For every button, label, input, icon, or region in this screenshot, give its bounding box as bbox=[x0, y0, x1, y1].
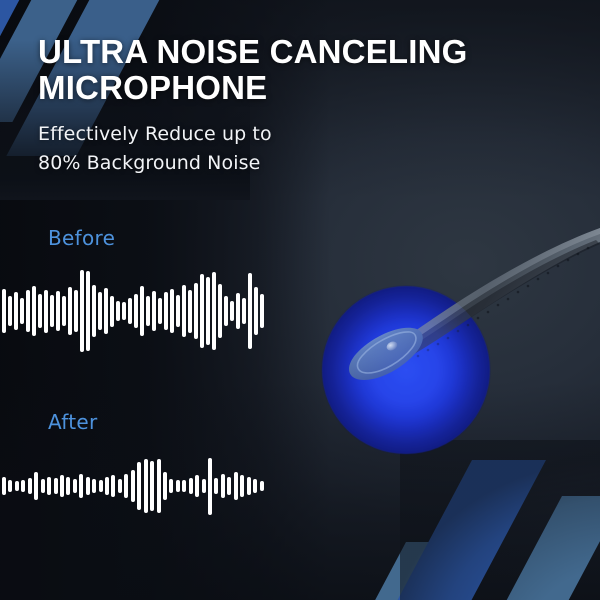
waveform-bar bbox=[260, 294, 264, 328]
waveform-bar bbox=[99, 480, 103, 491]
waveform-bar bbox=[41, 479, 45, 493]
waveform-bar bbox=[195, 475, 199, 496]
waveform-bar bbox=[122, 302, 126, 319]
waveform-bar bbox=[47, 477, 51, 496]
waveform-bar bbox=[214, 478, 218, 494]
label-before: Before bbox=[48, 226, 115, 250]
waveform-bar bbox=[163, 472, 167, 499]
waveform-bar bbox=[164, 292, 168, 330]
waveform-bar bbox=[221, 474, 225, 498]
waveform-bar bbox=[230, 301, 234, 322]
waveform-bar bbox=[248, 273, 252, 349]
waveform-bar bbox=[227, 477, 231, 496]
waveform-bar bbox=[169, 479, 173, 494]
waveform-bar bbox=[74, 290, 78, 331]
waveform-bar bbox=[86, 477, 90, 496]
waveform-bar bbox=[2, 289, 6, 334]
waveform-bar bbox=[206, 277, 210, 344]
product-photo-headset-microphone bbox=[300, 210, 600, 470]
waveform-bar bbox=[146, 296, 150, 325]
waveform-bar bbox=[253, 479, 257, 493]
waveform-bar bbox=[62, 296, 66, 325]
waveform-bar bbox=[26, 290, 30, 331]
waveform-bar bbox=[20, 298, 24, 324]
waveform-bar bbox=[247, 477, 251, 494]
waveform-bar bbox=[2, 477, 6, 496]
waveform-bar bbox=[137, 462, 141, 509]
waveform-bar bbox=[242, 298, 246, 324]
waveform-bar bbox=[131, 470, 135, 502]
waveform-bar bbox=[116, 301, 120, 322]
waveform-bar bbox=[104, 288, 108, 334]
waveform-bar bbox=[240, 475, 244, 496]
waveform-bar bbox=[34, 472, 38, 499]
waveform-bar bbox=[66, 477, 70, 494]
waveform-bar bbox=[60, 475, 64, 496]
waveform-bar bbox=[44, 290, 48, 333]
waveform-bar bbox=[92, 285, 96, 337]
waveform-bar bbox=[118, 479, 122, 494]
waveform-bar bbox=[105, 477, 109, 494]
page-subtitle: Effectively Reduce up to 80% Background … bbox=[38, 120, 468, 178]
waveform-bar bbox=[188, 290, 192, 333]
boom-arm-texture-band bbox=[402, 240, 600, 360]
promo-banner: ULTRA NOISE CANCELING MICROPHONE Effecti… bbox=[0, 0, 600, 600]
waveform-bar bbox=[110, 296, 114, 327]
waveform-bar bbox=[56, 291, 60, 331]
waveform-bar bbox=[218, 284, 222, 337]
waveform-bar bbox=[8, 296, 12, 325]
boom-arm-mesh-dots bbox=[417, 247, 590, 358]
waveform-bar bbox=[200, 274, 204, 348]
waveform-bar bbox=[152, 291, 156, 331]
waveform-bar bbox=[182, 285, 186, 337]
waveform-bar bbox=[54, 478, 58, 494]
waveform-bar bbox=[28, 478, 32, 494]
waveform-bar bbox=[212, 272, 216, 349]
waveform-after bbox=[2, 455, 264, 517]
waveform-bar bbox=[32, 286, 36, 336]
waveform-bar bbox=[92, 479, 96, 494]
waveform-bar bbox=[14, 292, 18, 330]
waveform-bar bbox=[236, 293, 240, 329]
waveform-bar bbox=[194, 283, 198, 340]
waveform-bar bbox=[68, 287, 72, 335]
waveform-bar bbox=[8, 480, 12, 492]
microphone-boom-arm bbox=[300, 210, 600, 470]
waveform-bar bbox=[176, 295, 180, 328]
waveform-bar bbox=[128, 298, 132, 324]
waveform-bar bbox=[254, 287, 258, 335]
waveform-bar bbox=[158, 298, 162, 324]
waveform-bar bbox=[170, 289, 174, 334]
headline-block: ULTRA NOISE CANCELING MICROPHONE Effecti… bbox=[38, 34, 468, 178]
waveform-bar bbox=[15, 481, 19, 491]
waveform-bar bbox=[234, 472, 238, 501]
waveform-bar bbox=[189, 478, 193, 494]
waveform-before bbox=[2, 268, 264, 354]
waveform-bar bbox=[208, 458, 212, 515]
waveform-bar bbox=[86, 271, 90, 350]
waveform-bar bbox=[182, 480, 186, 492]
waveform-bar bbox=[38, 294, 42, 328]
waveform-bar bbox=[79, 474, 83, 498]
waveform-bar bbox=[176, 480, 180, 491]
waveform-bar bbox=[111, 475, 115, 496]
waveform-bar bbox=[134, 294, 138, 328]
waveform-bar bbox=[50, 295, 54, 328]
waveform-bar bbox=[21, 480, 25, 491]
waveform-bar bbox=[202, 479, 206, 493]
waveform-bar bbox=[124, 474, 128, 499]
waveform-bar bbox=[140, 286, 144, 336]
waveform-bar bbox=[73, 479, 77, 493]
waveform-bar bbox=[157, 459, 161, 512]
waveform-bar bbox=[224, 296, 228, 325]
waveform-bar bbox=[98, 292, 102, 330]
waveform-bar bbox=[260, 481, 264, 491]
page-title: ULTRA NOISE CANCELING MICROPHONE bbox=[38, 34, 468, 106]
waveform-bar bbox=[144, 459, 148, 514]
waveform-bar bbox=[150, 461, 154, 511]
microphone-capsule-tip bbox=[349, 328, 423, 380]
label-after: After bbox=[48, 410, 98, 434]
waveform-bar bbox=[80, 270, 84, 353]
